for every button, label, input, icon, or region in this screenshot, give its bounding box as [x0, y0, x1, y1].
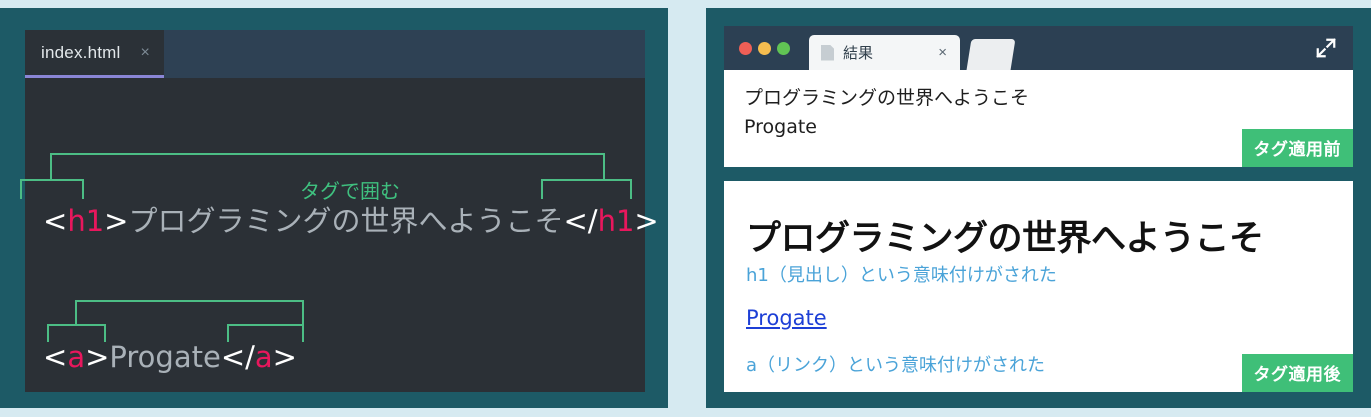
browser-tab-inactive[interactable]	[967, 39, 1016, 70]
bracket-h1-outer	[50, 153, 605, 181]
code-close-tagname: a	[255, 340, 273, 374]
code-content: Progate	[109, 340, 220, 374]
browser-window: 結果 × プログラミングの世界へようこそ Progate タグ適用前 プログラミ…	[724, 26, 1353, 392]
code-editor-panel: index.html × タグで囲む <h1>プログラミングの世界へようこそ</…	[0, 8, 668, 408]
code-open-lt: <	[43, 340, 67, 374]
code-close-gt: >	[634, 204, 658, 238]
close-icon[interactable]: ×	[140, 45, 149, 61]
preview-link[interactable]: Progate	[746, 306, 827, 330]
bracket-a-outer	[75, 300, 304, 326]
browser-tab-result[interactable]: 結果 ×	[809, 35, 960, 70]
before-text-line-2: Progate	[744, 116, 817, 138]
minimize-traffic-light-icon[interactable]	[758, 42, 771, 55]
code-line-h1: <h1>プログラミングの世界へようこそ</h1>	[43, 198, 659, 240]
close-traffic-light-icon[interactable]	[739, 42, 752, 55]
preview-after-card: プログラミングの世界へようこそ h1（見出し）という意味付けがされた Proga…	[724, 181, 1353, 392]
code-open-tagname: h1	[67, 204, 104, 238]
editor-tab-bar: index.html ×	[25, 30, 645, 78]
code-area[interactable]: タグで囲む <h1>プログラミングの世界へようこそ</h1> <a>Progat…	[25, 78, 645, 392]
browser-preview-panel: 結果 × プログラミングの世界へようこそ Progate タグ適用前 プログラミ…	[706, 8, 1371, 408]
before-text-line-1: プログラミングの世界へようこそ	[744, 83, 1029, 110]
close-icon[interactable]: ×	[938, 45, 947, 60]
preview-heading: プログラミングの世界へようこそ	[746, 210, 1264, 261]
code-open-gt: >	[104, 204, 128, 238]
bracket-h1-open	[20, 179, 84, 199]
code-open-gt: >	[85, 340, 109, 374]
preview-before-card: プログラミングの世界へようこそ Progate タグ適用前	[724, 70, 1353, 167]
editor-window: index.html × タグで囲む <h1>プログラミングの世界へようこそ</…	[25, 30, 645, 392]
maximize-traffic-light-icon[interactable]	[777, 42, 790, 55]
code-close-lt: </	[221, 340, 255, 374]
bracket-h1-close	[541, 179, 632, 199]
code-content: プログラミングの世界へようこそ	[128, 204, 563, 238]
code-open-lt: <	[43, 204, 67, 238]
editor-tab-label: index.html	[41, 43, 120, 63]
code-open-tagname: a	[67, 340, 85, 374]
code-line-a: <a>Progate</a>	[43, 340, 297, 374]
browser-title-bar: 結果 ×	[724, 26, 1353, 70]
document-icon	[821, 45, 834, 61]
browser-tab-label: 結果	[843, 42, 873, 63]
code-close-gt: >	[273, 340, 297, 374]
badge-before-tag: タグ適用前	[1242, 129, 1354, 167]
expand-icon[interactable]	[1315, 37, 1337, 59]
badge-after-tag: タグ適用後	[1242, 354, 1354, 392]
code-close-lt: </	[563, 204, 597, 238]
editor-tab-index-html[interactable]: index.html ×	[25, 30, 164, 78]
heading-note: h1（見出し）という意味付けがされた	[746, 261, 1057, 287]
code-close-tagname: h1	[598, 204, 635, 238]
link-note: a（リンク）という意味付けがされた	[746, 351, 1045, 377]
